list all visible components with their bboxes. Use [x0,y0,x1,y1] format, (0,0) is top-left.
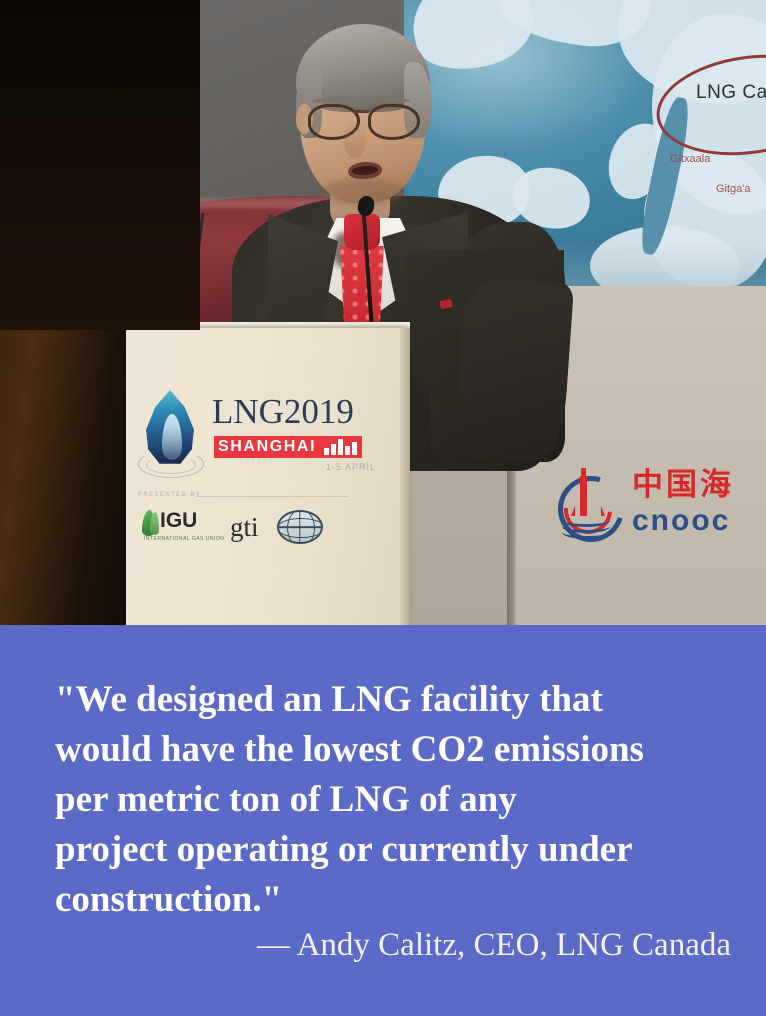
globe-arc [287,510,315,544]
speaker-right-sleeve [454,276,574,463]
conference-photo: LNG Ca Gitxaala Gitga'a 中国海 cnooc [0,0,766,625]
leaf-icon-2 [150,512,159,535]
speaker-nose [344,122,366,158]
shanghai-badge: SHANGHAI [214,436,362,458]
igu-subtitle: INTERNATIONAL GAS UNION [144,536,224,542]
event-name: LNG2019 [212,392,354,432]
podium-right-edge [400,328,410,625]
quote-panel: "We designed an LNG facility that would … [0,625,766,1016]
presented-by-rule [196,496,348,497]
eyeglasses-bridge [353,110,369,113]
city-skyline-icon [324,439,358,455]
event-dates: 1-5 APRIL [326,462,376,472]
stage-dark-top-left [0,0,200,330]
quote-text: "We designed an LNG facility that would … [55,675,725,925]
quote-attribution: — Andy Calitz, CEO, LNG Canada [55,927,731,964]
globe-arc-2 [277,518,323,538]
quote-card: LNG Ca Gitxaala Gitga'a 中国海 cnooc [0,0,766,1016]
flame-swirl-icon-2 [146,456,196,474]
lng2019-logo: LNG2019 SHANGHAI 1-5 APRIL PRESENTED BY … [136,386,354,551]
igu-label: IGU [160,510,197,531]
sponsor-logos: IGU INTERNATIONAL GAS UNION gti [140,508,354,546]
igu-logo: IGU INTERNATIONAL GAS UNION [140,508,212,546]
shanghai-label: SHANGHAI [218,439,316,455]
gti-logo: gti [230,514,259,541]
presented-by-label: PRESENTED BY [138,492,201,498]
globe-icon [277,510,323,544]
